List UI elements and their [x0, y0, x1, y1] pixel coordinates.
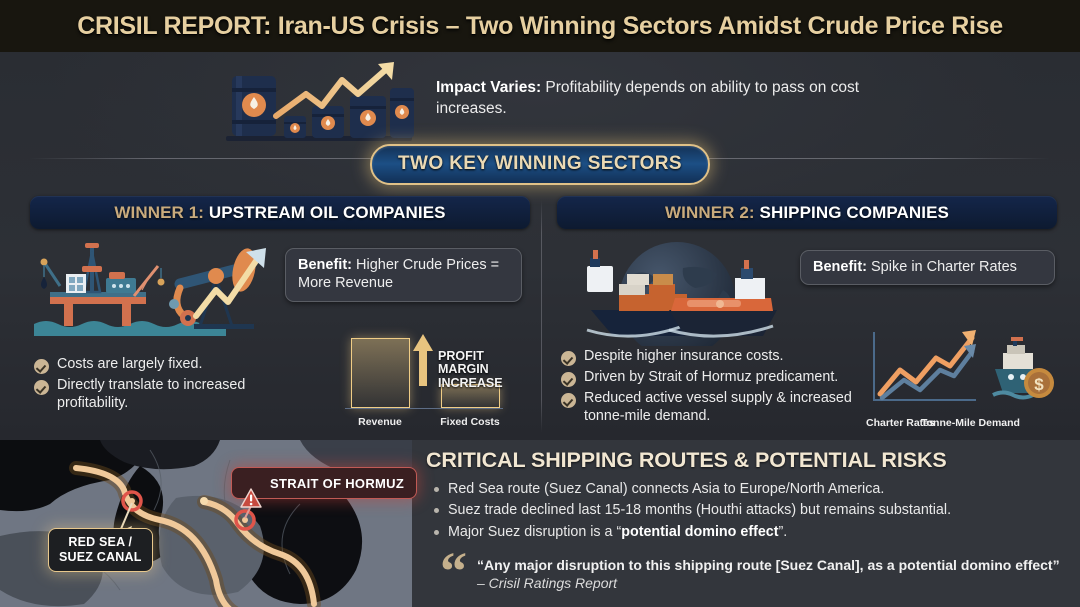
map-label-red-sea[interactable]: RED SEA / SUEZ CANAL	[48, 528, 153, 572]
oil-barrels-rising-chart-icon	[218, 58, 418, 144]
bullet-dot-icon	[434, 530, 439, 535]
ship-dollar-coin-icon: $	[985, 335, 1057, 405]
warning-triangle-icon	[240, 473, 262, 493]
list-item: Directly translate to increased profitab…	[34, 377, 294, 413]
page-title: CRISIL REPORT: Iran-US Crisis – Two Winn…	[77, 12, 1003, 41]
winner-1-header: WINNER 1: UPSTREAM OIL COMPANIES	[30, 196, 530, 229]
risk-bullet-2-bold: potential domino effect	[621, 524, 778, 540]
up-arrow-icon	[413, 334, 433, 386]
risk-bullet-1: Suez trade declined last 15-18 months (H…	[448, 500, 951, 520]
list-item: Reduced active vessel supply & increased…	[561, 390, 861, 426]
quote-mark-icon: “	[440, 552, 467, 592]
winner-2-benefit-label: Benefit:	[813, 259, 867, 275]
section-badge: TWO KEY WINNING SECTORS	[370, 144, 710, 185]
list-item: Major Suez disruption is a “potential do…	[426, 522, 1072, 542]
check-circle-icon	[561, 393, 576, 408]
risk-bullet-2: Major Suez disruption is a “potential do…	[448, 522, 787, 542]
map-label-strait-of-hormuz[interactable]: STRAIT OF HORMUZ	[231, 467, 417, 499]
winner-1-bullet-1: Directly translate to increased profitab…	[57, 377, 294, 413]
winner-2-bullet-list: Despite higher insurance costs. Driven b…	[561, 348, 861, 429]
infographic-page: CRISIL REPORT: Iran-US Crisis – Two Winn…	[0, 0, 1080, 607]
oil-rig-pumpjack-icon	[30, 238, 295, 338]
line-chart-svg	[868, 330, 978, 412]
bar-label-revenue: Revenue	[341, 416, 419, 428]
quote-source: – Crisil Ratings Report	[477, 575, 617, 591]
map-label-hormuz-text: STRAIT OF HORMUZ	[270, 476, 404, 491]
quote-text: “Any major disruption to this shipping r…	[477, 552, 1070, 592]
profit-margin-bar-chart: Revenue Fixed Costs PROFIT MARGIN INCREA…	[325, 322, 500, 430]
bullet-dot-icon	[434, 508, 439, 513]
risk-bullet-0: Red Sea route (Suez Canal) connects Asia…	[448, 479, 884, 499]
check-circle-icon	[34, 380, 49, 395]
quote-block: “ “Any major disruption to this shipping…	[440, 552, 1070, 592]
svg-text:$: $	[1034, 375, 1044, 394]
list-item: Despite higher insurance costs.	[561, 348, 861, 366]
quote-body: “Any major disruption to this shipping r…	[477, 557, 1060, 573]
check-circle-icon	[561, 351, 576, 366]
winner-1-title: UPSTREAM OIL COMPANIES	[209, 203, 446, 222]
winner-2-benefit-text: Spike in Charter Rates	[867, 259, 1017, 275]
winner-2-bullet-0: Despite higher insurance costs.	[584, 348, 783, 366]
winner-2-bullet-1: Driven by Strait of Hormuz predicament.	[584, 369, 838, 387]
winner-2-prefix: WINNER 2:	[665, 203, 760, 222]
chart-axis	[345, 408, 503, 409]
impact-label: Impact Varies:	[436, 79, 541, 96]
risks-panel: CRITICAL SHIPPING ROUTES & POTENTIAL RIS…	[426, 448, 1072, 603]
list-item: Suez trade declined last 15-18 months (H…	[426, 500, 1072, 520]
winner-2-header: WINNER 2: SHIPPING COMPANIES	[557, 196, 1057, 229]
check-circle-icon	[34, 359, 49, 374]
bar-label-fixed-costs: Fixed Costs	[426, 416, 514, 428]
winner-1-prefix: WINNER 1:	[114, 203, 209, 222]
bottom-section: CRITICAL SHIPPING ROUTES & POTENTIAL RIS…	[0, 440, 1080, 607]
line-label-tonne-mile-demand: Tonne-Mile Demand	[921, 418, 993, 430]
list-item: Red Sea route (Suez Canal) connects Asia…	[426, 479, 1072, 499]
impact-section: Impact Varies: Profitability depends on …	[0, 56, 1080, 144]
shipping-route-map	[0, 440, 412, 607]
risk-bullet-2-post: ”.	[779, 524, 788, 540]
winner-1-benefit-box: Benefit: Higher Crude Prices = More Reve…	[285, 248, 522, 302]
check-circle-icon	[561, 372, 576, 387]
winner-2-title: SHIPPING COMPANIES	[760, 203, 949, 222]
line-label-charter-rates: Charter Rates	[866, 418, 926, 430]
risk-bullet-2-pre: Major Suez disruption is a “	[448, 524, 621, 540]
bullet-dot-icon	[434, 487, 439, 492]
winner-1-bullet-0: Costs are largely fixed.	[57, 356, 202, 374]
impact-text: Impact Varies: Profitability depends on …	[436, 78, 866, 119]
title-bar: CRISIL REPORT: Iran-US Crisis – Two Winn…	[0, 0, 1080, 52]
bar-revenue	[351, 338, 410, 408]
column-divider	[541, 200, 542, 432]
winner-1-bullet-list: Costs are largely fixed. Directly transl…	[34, 356, 294, 416]
winner-2-column: WINNER 2: SHIPPING COMPANIES	[557, 196, 1057, 436]
list-item: Costs are largely fixed.	[34, 356, 294, 374]
list-item: Driven by Strait of Hormuz predicament.	[561, 369, 861, 387]
winner-1-benefit-label: Benefit:	[298, 257, 352, 273]
cargo-ships-globe-icon	[557, 238, 797, 346]
winner-2-benefit-box: Benefit: Spike in Charter Rates	[800, 250, 1055, 285]
risks-title: CRITICAL SHIPPING ROUTES & POTENTIAL RIS…	[426, 448, 1072, 473]
winner-2-bullet-2: Reduced active vessel supply & increased…	[584, 390, 861, 426]
profit-margin-increase-label: PROFIT MARGIN INCREASE	[438, 350, 508, 391]
charter-rates-line-chart: Charter Rates Tonne-Mile Demand	[868, 330, 978, 430]
